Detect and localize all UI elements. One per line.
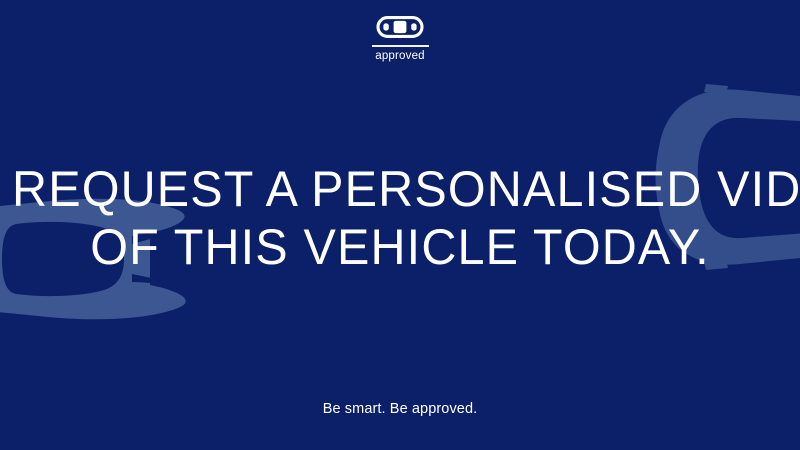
brand-wordmark: approved	[375, 51, 425, 63]
brand-logo-lockup[interactable]: approved	[0, 14, 800, 62]
tagline: Be smart. Be approved.	[0, 402, 800, 417]
promo-banner: approved REQUEST A PERSONALISED VIDEO OF…	[0, 0, 800, 450]
car-top-view-icon	[376, 14, 424, 40]
logo-divider	[372, 45, 429, 47]
headline: REQUEST A PERSONALISED VIDEO OF THIS VEH…	[0, 160, 800, 276]
headline-line-1: REQUEST A PERSONALISED VIDEO	[12, 160, 788, 218]
headline-line-2: OF THIS VEHICLE TODAY.	[12, 218, 788, 276]
